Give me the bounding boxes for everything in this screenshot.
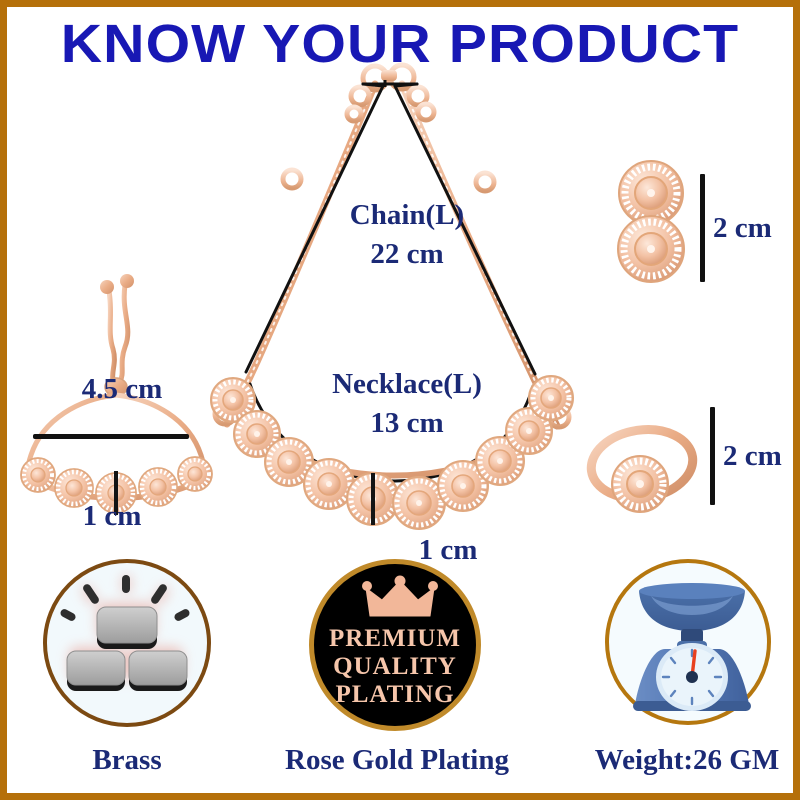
plating-seal-line-3: PLATING: [314, 682, 476, 708]
earrings-measure-bar: [700, 174, 705, 282]
kitchen-scale-icon: [617, 569, 767, 719]
necklace-illustration: [197, 62, 597, 562]
bracelet-width-measure: 4.5 cm: [62, 373, 182, 406]
brass-badge-label: Brass: [37, 744, 217, 777]
necklace-label: Necklace(L): [297, 368, 517, 401]
ring-measure-bar: [710, 407, 715, 505]
ring-svg: [585, 412, 700, 522]
ring-illustration: [585, 412, 700, 522]
earrings-svg: [607, 157, 697, 287]
necklace-chain-measure: Chain(L) 22 cm: [307, 199, 507, 271]
earrings-height-measure: 2 cm: [713, 212, 793, 245]
plating-badge-label: Rose Gold Plating: [257, 744, 537, 777]
weight-badge-circle: [605, 559, 771, 725]
chain-label: Chain(L): [307, 199, 507, 232]
necklace-value: 13 cm: [297, 407, 517, 440]
metal-ingots-icon: [47, 563, 207, 723]
infographic-page: KNOW YOUR PRODUCT: [0, 0, 800, 800]
bracelet-bead-measure: 1 cm: [67, 500, 157, 533]
necklace-length-measure: Necklace(L) 13 cm: [297, 368, 517, 440]
plating-badge-circle: PREMIUM QUALITY PLATING: [309, 559, 481, 731]
plating-seal-line-1: PREMIUM: [314, 626, 476, 652]
necklace-svg: [197, 62, 597, 562]
weight-badge-label: Weight:26 GM: [567, 744, 800, 777]
brass-badge-circle: [43, 559, 211, 727]
plating-seal-line-2: QUALITY: [314, 654, 476, 680]
earrings-illustration: [607, 157, 697, 287]
ring-height-measure: 2 cm: [723, 440, 800, 473]
crown-icon: [364, 578, 436, 620]
chain-value: 22 cm: [307, 238, 507, 271]
